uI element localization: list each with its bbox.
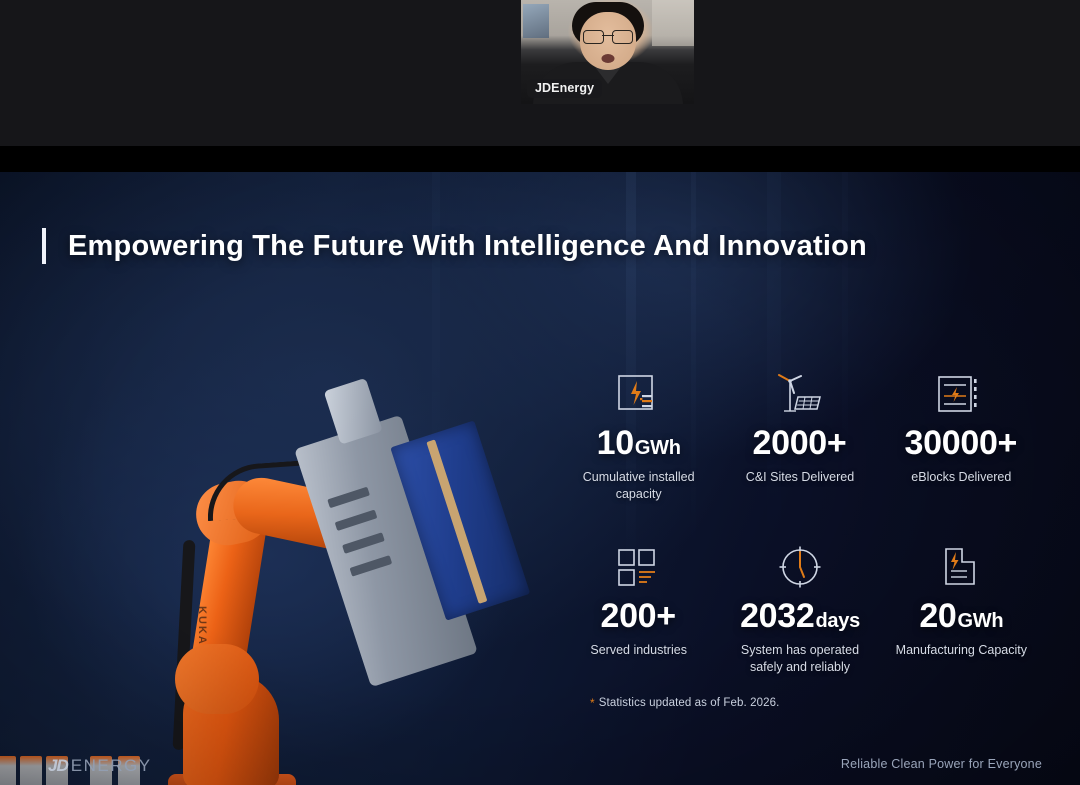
footnote-text: Statistics updated as of Feb. 2026. [599, 697, 780, 709]
background-wall-right [652, 0, 694, 46]
battery-bolt-icon [616, 368, 662, 420]
participant-glasses-bridge [602, 35, 614, 36]
stat-eblocks-delivered: 30000+ eBlocks Delivered [883, 368, 1040, 503]
robot-arm-photo: KUKA [0, 344, 560, 785]
participant-video-tile[interactable]: JDEnergy [521, 0, 694, 104]
eblock-icon [936, 368, 986, 420]
slide-title: Empowering The Future With Intelligence … [68, 230, 867, 263]
company-logo: JD ENERGY [48, 756, 152, 776]
stat-label: Served industries [590, 642, 687, 659]
stat-label: Cumulative installed capacity [569, 469, 709, 503]
footnote-asterisk: * [590, 697, 595, 709]
slide-tagline: Reliable Clean Power for Everyone [841, 757, 1042, 771]
stat-label: Manufacturing Capacity [896, 642, 1027, 659]
stat-value: 200+ [600, 599, 676, 633]
stat-value: 2000+ [752, 426, 847, 460]
robot-shoulder-joint [175, 644, 259, 714]
grid-squares-icon [615, 541, 663, 593]
video-conference-strip: JDEnergy [0, 0, 1080, 146]
wind-solar-icon [774, 368, 826, 420]
stat-ci-sites-delivered: 2000+ C&I Sites Delivered [721, 368, 878, 503]
logo-energy-text: ENERGY [71, 756, 152, 776]
stat-label: System has operated safely and reliably [730, 642, 870, 676]
factory-bolt-icon [938, 541, 984, 593]
logo-jd-mark: JD [48, 756, 68, 776]
stat-operating-days: 2032 days System has operated safely and… [721, 541, 878, 676]
stat-label: eBlocks Delivered [911, 469, 1011, 486]
statistics-footnote: * Statistics updated as of Feb. 2026. [590, 697, 779, 709]
slide-title-row: Empowering The Future With Intelligence … [42, 228, 867, 264]
stat-served-industries: 200+ Served industries [560, 541, 717, 676]
title-accent-bar [42, 228, 46, 264]
stat-cumulative-installed-capacity: 10 GWh Cumulative installed capacity [560, 368, 717, 503]
screen: JDEnergy [0, 0, 1080, 785]
stat-manufacturing-capacity: 20 GWh Manufacturing Capacity [883, 541, 1040, 676]
background-wall-picture [523, 4, 549, 38]
participant-mouth [601, 54, 614, 63]
statistics-grid: 10 GWh Cumulative installed capacity [560, 368, 1040, 676]
robot-brand-label: KUKA [196, 606, 208, 646]
stat-value: 10 GWh [597, 426, 681, 460]
participant-name-badge: JDEnergy [527, 79, 602, 99]
clock-icon [776, 541, 824, 593]
stat-value: 30000+ [905, 426, 1019, 460]
letterbox-bar [0, 146, 1080, 172]
stat-label: C&I Sites Delivered [746, 469, 854, 486]
stat-value: 20 GWh [919, 599, 1003, 633]
stat-value: 2032 days [740, 599, 860, 633]
